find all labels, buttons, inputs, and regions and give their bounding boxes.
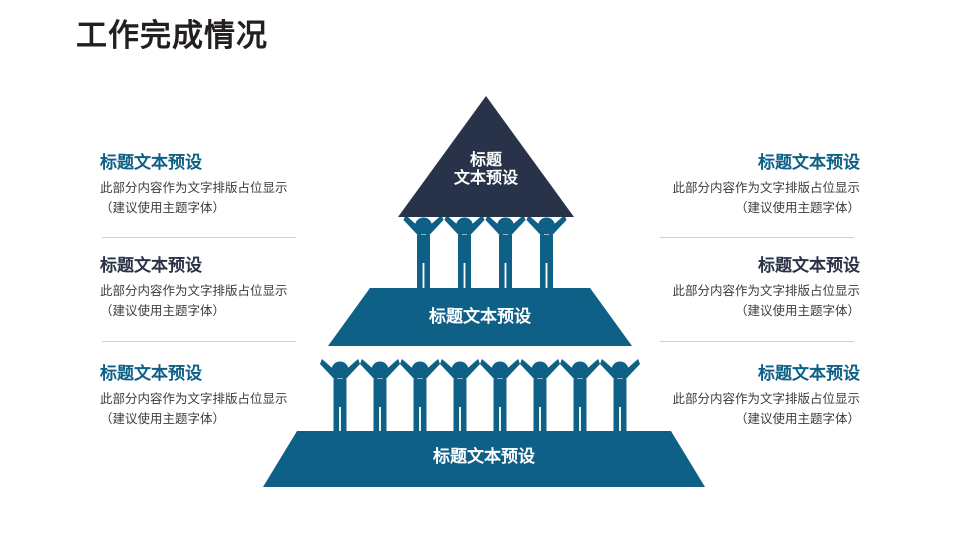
person-icon [403,213,444,289]
person-icon [600,357,640,433]
text-block-line-2: （建议使用主题字体） [636,199,860,218]
text-block-line-1: 此部分内容作为文字排版占位显示 [636,179,860,198]
person-icon [320,357,360,433]
person-icon [526,213,567,289]
people-row-lower [320,357,642,433]
people-row-upper [403,213,569,289]
person-icon [360,357,400,433]
text-block-line-2: （建议使用主题字体） [100,410,324,429]
text-block-line-1: 此部分内容作为文字排版占位显示 [100,390,324,409]
person-icon [440,357,480,433]
pyramid-tier-top[interactable] [398,96,574,217]
text-block-heading: 标题文本预设 [100,255,324,276]
text-block-right-2: 标题文本预设 此部分内容作为文字排版占位显示 （建议使用主题字体） [636,255,860,321]
divider-left-2 [102,341,296,342]
text-block-line-2: （建议使用主题字体） [100,302,324,321]
text-block-right-1: 标题文本预设 此部分内容作为文字排版占位显示 （建议使用主题字体） [636,152,860,218]
page-title: 工作完成情况 [76,17,268,54]
text-block-left-3: 标题文本预设 此部分内容作为文字排版占位显示 （建议使用主题字体） [100,363,324,429]
text-block-heading: 标题文本预设 [636,255,860,276]
pyramid-tier-bottom[interactable] [263,431,705,487]
person-icon [480,357,520,433]
person-icon [485,213,526,289]
text-block-right-3: 标题文本预设 此部分内容作为文字排版占位显示 （建议使用主题字体） [636,363,860,429]
person-icon [520,357,560,433]
pyramid-tier-middle[interactable] [328,288,632,346]
text-block-heading: 标题文本预设 [636,363,860,384]
divider-left-1 [102,237,296,238]
pyramid-tier-bottom-shape [263,431,705,487]
text-block-line-1: 此部分内容作为文字排版占位显示 [100,179,324,198]
pyramid-tier-top-shape [398,96,574,217]
person-icon [400,357,440,433]
person-icon [444,213,485,289]
person-icon [560,357,600,433]
divider-right-1 [660,237,854,238]
pyramid-tier-middle-shape [328,288,632,346]
text-block-line-2: （建议使用主题字体） [636,410,860,429]
divider-right-2 [660,341,854,342]
text-block-line-2: （建议使用主题字体） [100,199,324,218]
text-block-left-2: 标题文本预设 此部分内容作为文字排版占位显示 （建议使用主题字体） [100,255,324,321]
text-block-heading: 标题文本预设 [636,152,860,173]
text-block-line-1: 此部分内容作为文字排版占位显示 [636,390,860,409]
text-block-line-1: 此部分内容作为文字排版占位显示 [636,282,860,301]
text-block-left-1: 标题文本预设 此部分内容作为文字排版占位显示 （建议使用主题字体） [100,152,324,218]
slide-canvas: 工作完成情况 标题文本预设 此部分内容作为文字排版占位显示 （建议使用主题字体）… [0,0,960,540]
text-block-heading: 标题文本预设 [100,363,324,384]
text-block-heading: 标题文本预设 [100,152,324,173]
text-block-line-1: 此部分内容作为文字排版占位显示 [100,282,324,301]
text-block-line-2: （建议使用主题字体） [636,302,860,321]
